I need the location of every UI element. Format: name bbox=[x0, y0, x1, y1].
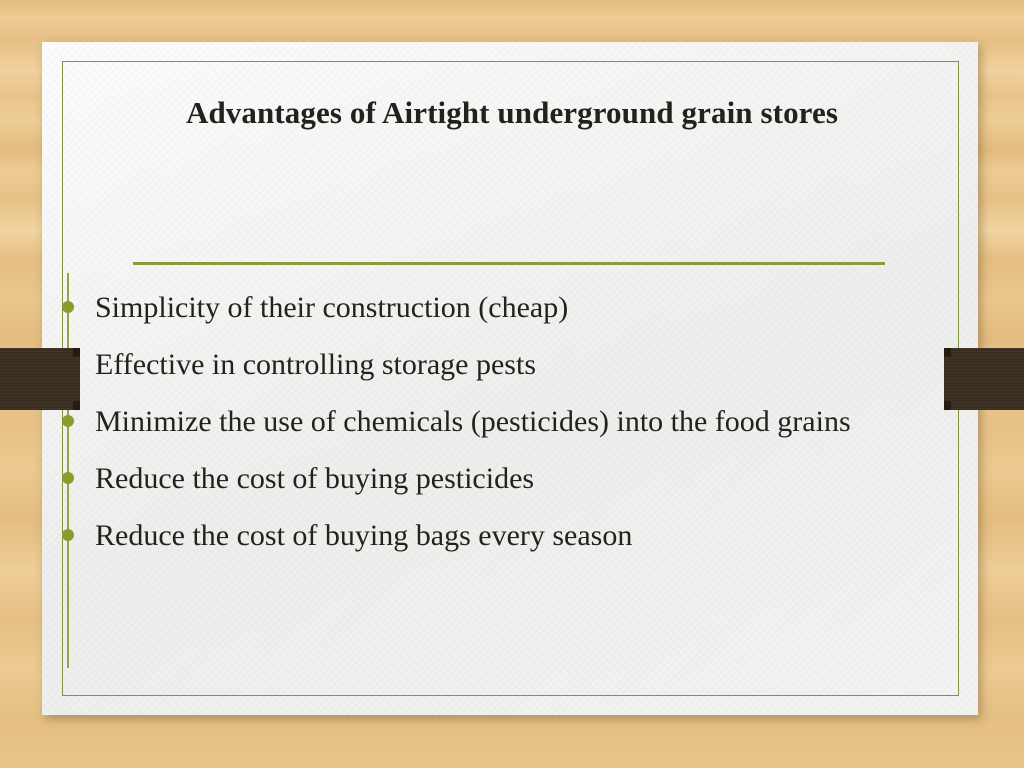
ribbon-wing-right bbox=[944, 348, 1024, 410]
list-item-label: Effective in controlling storage pests bbox=[95, 348, 536, 381]
ribbon-notch-icon bbox=[73, 401, 80, 410]
list-item: Reduce the cost of buying pesticides bbox=[42, 457, 978, 500]
bullet-dot-icon bbox=[62, 415, 74, 427]
slide-content: Advantages of Airtight underground grain… bbox=[42, 42, 978, 715]
list-item: Reduce the cost of buying bags every sea… bbox=[42, 514, 978, 557]
ribbon-wing-left bbox=[0, 348, 80, 410]
slide-title: Advantages of Airtight underground grain… bbox=[82, 95, 942, 131]
slide-card: Advantages of Airtight underground grain… bbox=[42, 42, 978, 715]
bullet-list: Simplicity of their construction (cheap)… bbox=[42, 286, 978, 557]
list-item: Simplicity of their construction (cheap) bbox=[42, 286, 978, 329]
ribbon-notch-icon bbox=[73, 348, 80, 357]
title-divider bbox=[133, 262, 885, 265]
list-item-label: Reduce the cost of buying pesticides bbox=[95, 462, 534, 495]
bullet-dot-icon bbox=[62, 472, 74, 484]
list-item: Effective in controlling storage pests bbox=[42, 343, 978, 386]
list-item-label: Simplicity of their construction (cheap) bbox=[95, 291, 568, 324]
list-item-label: Minimize the use of chemicals (pesticide… bbox=[95, 405, 851, 438]
bullet-dot-icon bbox=[62, 529, 74, 541]
bullet-dot-icon bbox=[62, 301, 74, 313]
ribbon-notch-icon bbox=[944, 401, 951, 410]
list-item: Minimize the use of chemicals (pesticide… bbox=[42, 400, 978, 443]
list-item-label: Reduce the cost of buying bags every sea… bbox=[95, 519, 632, 552]
ribbon-notch-icon bbox=[944, 348, 951, 357]
